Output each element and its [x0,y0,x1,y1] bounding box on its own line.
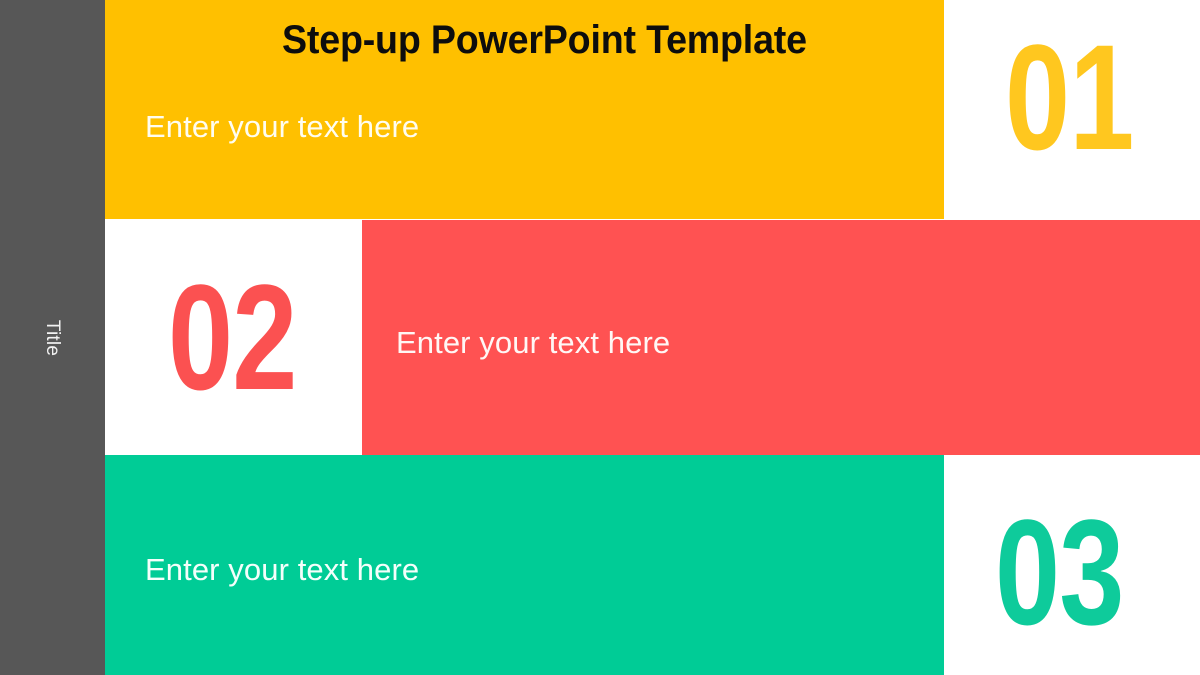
step-1-text[interactable]: Enter your text here [145,109,419,145]
step-3-number: 03 [995,497,1124,647]
step-2-number: 02 [168,262,297,412]
slide-title[interactable]: Step-up PowerPoint Template [282,18,996,63]
sidebar: Title [0,0,105,675]
step-1-number: 01 [1005,22,1134,172]
step-2-text[interactable]: Enter your text here [396,325,670,361]
step-3-text[interactable]: Enter your text here [145,552,419,588]
sidebar-title-label: Title [41,319,63,355]
sidebar-title-rotated: Title [0,0,105,675]
slide-canvas: Title Step-up PowerPoint Template Enter … [0,0,1200,675]
